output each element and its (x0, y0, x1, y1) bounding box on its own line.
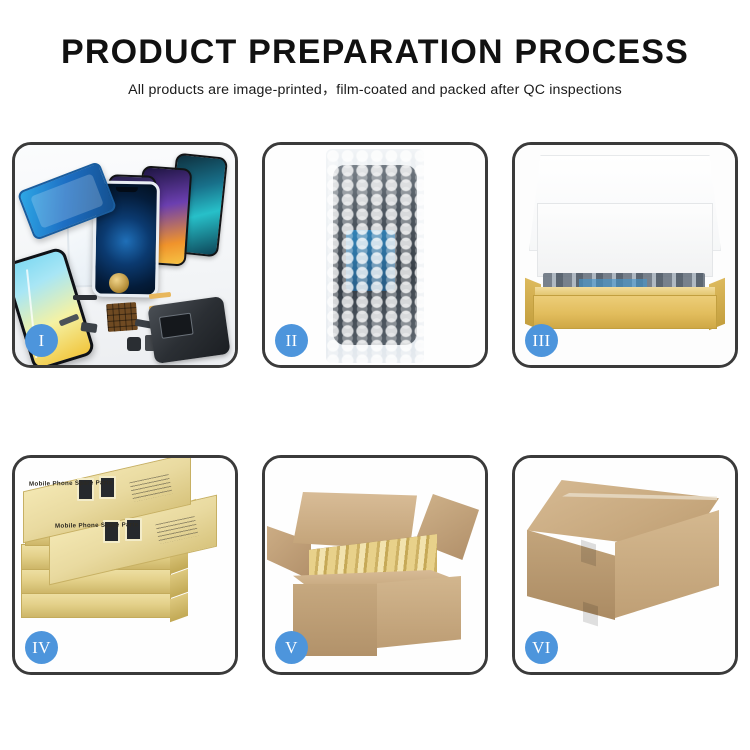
gold-flex-strip-icon (149, 292, 171, 299)
step-badge-5: V (275, 631, 308, 664)
box-front-face-icon (533, 295, 717, 329)
step-panel-i: I (12, 142, 238, 368)
step-badge-3: III (525, 324, 558, 357)
step-badge-2: II (275, 324, 308, 357)
motherboard-icon (147, 296, 230, 364)
step-panel-iii: III (512, 142, 738, 368)
kraft-box-icon (21, 592, 171, 618)
step-panel-v: V (262, 455, 488, 675)
carton-seam-lower-icon (583, 602, 598, 627)
process-steps-grid: I II III (12, 142, 738, 675)
step-panel-iv: Mobile Phone Spare Parts Mobile Phone Sp… (12, 455, 238, 675)
box-label-second: Mobile Phone Spare Parts (55, 521, 139, 529)
copper-coil-icon (109, 273, 129, 293)
step-panel-vi: VI (512, 455, 738, 675)
bubble-texture-overlay-icon (326, 156, 424, 363)
ic-chip-icon (127, 337, 141, 351)
step-badge-1: I (25, 324, 58, 357)
box-label-top: Mobile Phone Spare Parts (29, 479, 113, 487)
carton-side-left-icon (527, 528, 615, 620)
foam-liner-icon (537, 203, 713, 277)
page-subtitle: All products are image-printed，film-coat… (0, 79, 750, 99)
step-badge-6: VI (525, 631, 558, 664)
speaker-part-icon (73, 295, 97, 300)
page-title: PRODUCT PREPARATION PROCESS (0, 34, 750, 70)
header: PRODUCT PREPARATION PROCESS All products… (0, 34, 750, 99)
chip-array-icon (106, 302, 138, 332)
step-panel-ii: II (262, 142, 488, 368)
carton-seam-icon (581, 540, 596, 567)
step-badge-4: IV (25, 631, 58, 664)
product-preparation-infographic: PRODUCT PREPARATION PROCESS All products… (0, 0, 750, 750)
carton-face-right-icon (377, 576, 461, 648)
